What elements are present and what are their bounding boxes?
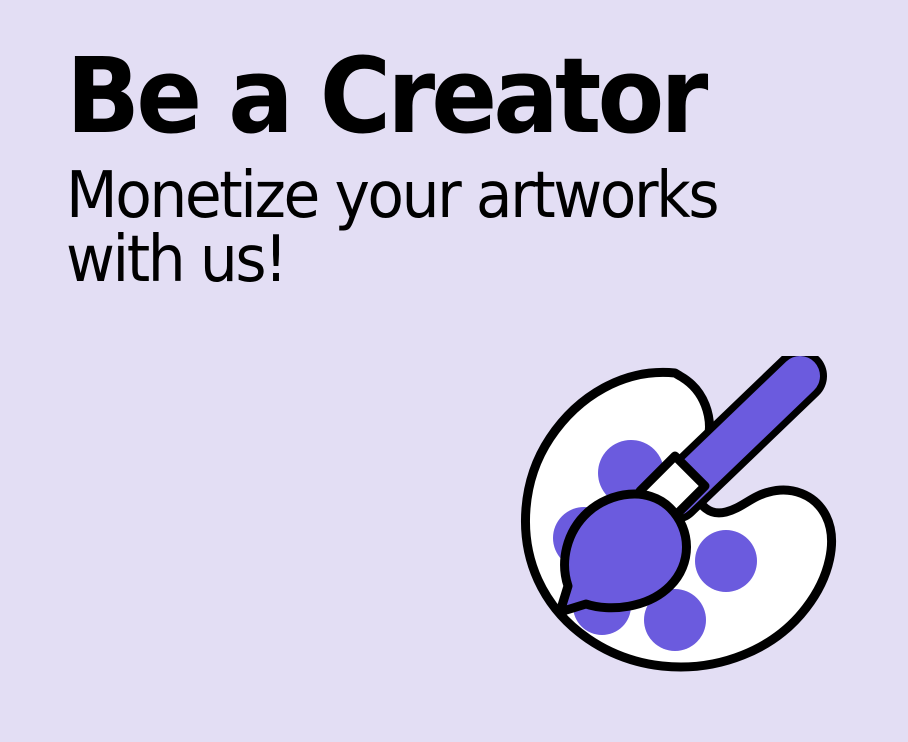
paint-dot-icon	[695, 530, 757, 592]
promo-text-block: Be a Creator Monetize your artworks with…	[66, 44, 866, 292]
palette-illustration	[512, 356, 848, 680]
promo-subtitle: Monetize your artworks with us!	[66, 148, 805, 292]
creator-promo-card: Be a Creator Monetize your artworks with…	[0, 0, 908, 742]
page-title: Be a Creator	[66, 44, 814, 148]
